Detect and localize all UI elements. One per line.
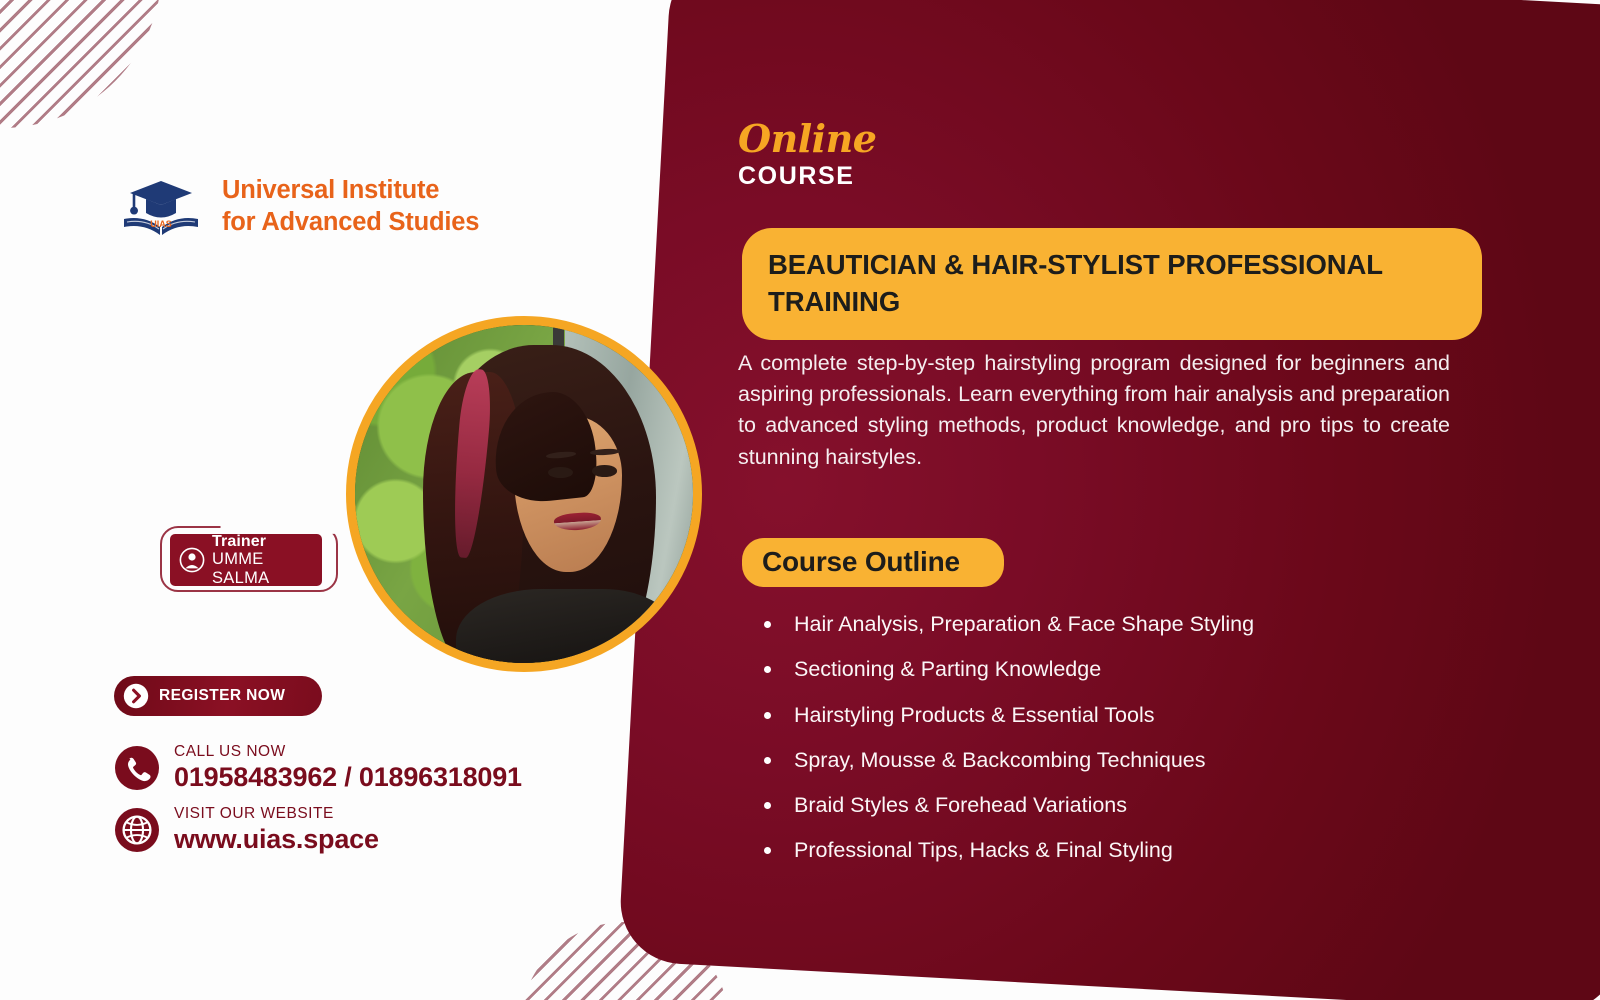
globe-icon [114,807,160,853]
brand-lockup: UIAS Universal Institute for Advanced St… [122,174,479,238]
course-outline-list: Hair Analysis, Preparation & Face Shape … [752,612,1452,884]
course-outline-banner: Course Outline [742,538,1004,587]
kicker-block: Online COURSE [738,120,876,191]
list-item: Hair Analysis, Preparation & Face Shape … [752,612,1452,638]
contact-row-phone[interactable]: CALL US NOW 01958483962 / 01896318091 [114,744,522,792]
course-description: A complete step-by-step hairstyling prog… [738,348,1450,473]
contact-block: CALL US NOW 01958483962 / 01896318091 VI… [114,744,522,868]
phone-icon [114,745,160,791]
register-now-button[interactable]: REGISTER NOW [114,676,322,716]
contact-phone-value: 01958483962 / 01896318091 [174,763,522,792]
trainer-role: Trainer [212,533,322,551]
contact-phone-label: CALL US NOW [174,744,522,761]
svg-text:UIAS: UIAS [150,219,172,229]
chevron-right-circle-icon [123,683,149,709]
list-item: Spray, Mousse & Backcombing Techniques [752,748,1452,774]
contact-website-label: VISIT OUR WEBSITE [174,806,379,823]
person-circle-icon [179,547,205,573]
trainer-photo [346,316,702,672]
course-outline-heading: Course Outline [762,546,960,578]
graduation-cap-book-icon: UIAS [122,175,200,237]
trainer-name: UMME SALMA [212,550,322,587]
contact-phone-text: CALL US NOW 01958483962 / 01896318091 [174,744,522,792]
trainer-badge-box: Trainer UMME SALMA [170,534,322,586]
contact-row-website[interactable]: VISIT OUR WEBSITE www.uias.space [114,806,522,854]
kicker-course: COURSE [738,162,876,191]
brand-name: Universal Institute for Advanced Studies [222,174,479,238]
list-item: Braid Styles & Forehead Variations [752,793,1452,819]
trainer-photo-image [355,325,693,663]
course-content: Online COURSE BEAUTICIAN & HAIR-STYLIST … [738,0,1488,1000]
course-title-banner: BEAUTICIAN & HAIR-STYLIST PROFESSIONAL T… [742,228,1482,340]
contact-website-text: VISIT OUR WEBSITE www.uias.space [174,806,379,854]
list-item: Professional Tips, Hacks & Final Styling [752,838,1452,864]
left-column: UIAS Universal Institute for Advanced St… [0,0,672,1000]
contact-website-value: www.uias.space [174,825,379,854]
list-item: Hairstyling Products & Essential Tools [752,703,1452,729]
trainer-badge: Trainer UMME SALMA [160,530,340,592]
poster-canvas: UIAS Universal Institute for Advanced St… [0,0,1600,1000]
course-title: BEAUTICIAN & HAIR-STYLIST PROFESSIONAL T… [768,247,1456,320]
trainer-text: Trainer UMME SALMA [212,533,322,588]
kicker-online: Online [738,120,876,158]
register-now-label: REGISTER NOW [159,687,285,705]
list-item: Sectioning & Parting Knowledge [752,657,1452,683]
